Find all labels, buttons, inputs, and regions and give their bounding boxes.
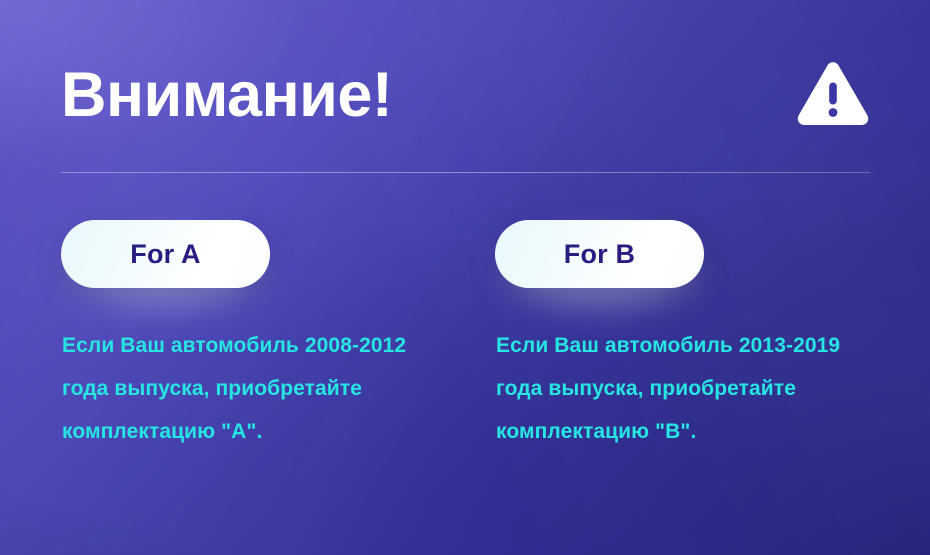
for-b-button-label: For B (564, 241, 636, 268)
for-a-button-label: For A (130, 241, 201, 268)
banner-content: Внимание! For A Если Ваш автомобиль 20 (0, 0, 930, 555)
option-a-description: Если Ваш автомобиль 2008-2012 года выпус… (62, 324, 454, 453)
pill-wrapper-b: For B (495, 220, 704, 288)
option-columns: For A Если Ваш автомобиль 2008-2012 года… (0, 220, 930, 480)
option-b-description: Если Ваш автомобиль 2013-2019 года выпус… (496, 324, 888, 453)
banner-header: Внимание! (61, 52, 870, 138)
warning-banner: Внимание! For A Если Ваш автомобиль 20 (0, 0, 930, 555)
pill-wrapper-a: For A (61, 220, 270, 288)
warning-triangle-icon (796, 60, 870, 128)
for-a-button[interactable]: For A (61, 220, 270, 288)
page-title: Внимание! (61, 52, 392, 138)
for-b-button[interactable]: For B (495, 220, 704, 288)
option-column-a: For A Если Ваш автомобиль 2008-2012 года… (61, 220, 461, 288)
option-column-b: For B Если Ваш автомобиль 2013-2019 года… (495, 220, 895, 288)
header-divider (61, 172, 870, 173)
